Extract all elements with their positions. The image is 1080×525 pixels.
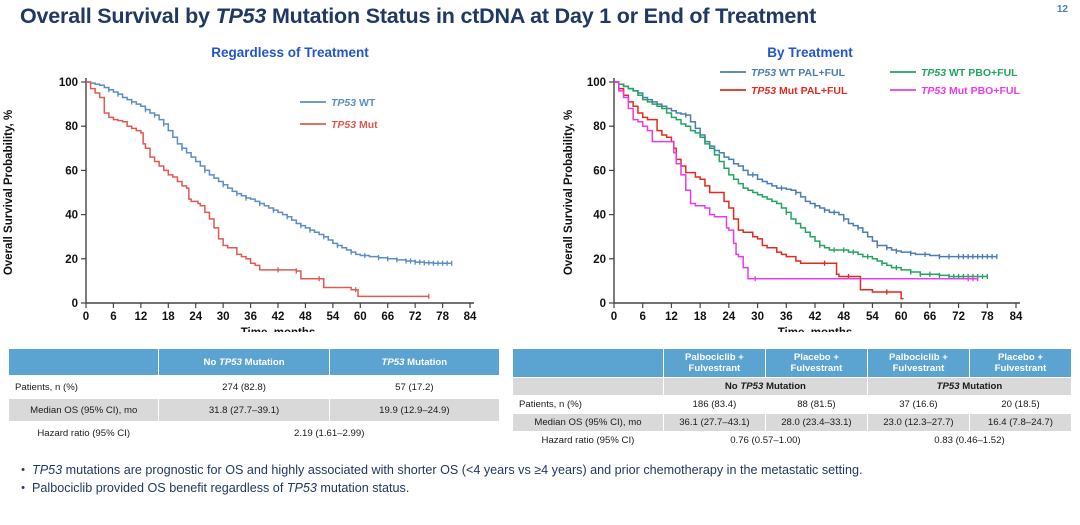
table-cell: 274 (82.8) (159, 376, 329, 399)
km-chart-right-svg: 0612182430364248546066727884020406080100… (560, 62, 1080, 332)
page-title: Overall Survival by TP53 Mutation Status… (20, 4, 1030, 29)
x-tick-label: 18 (694, 311, 707, 323)
y-tick-label: 80 (593, 121, 606, 133)
x-axis-label: Time, months (241, 327, 316, 332)
x-tick-label: 12 (665, 311, 678, 323)
km-curve-1 (86, 82, 429, 296)
y-tick-label: 80 (65, 121, 78, 133)
km-chart-by-treatment: 0612182430364248546066727884020406080100… (560, 62, 1080, 332)
table-header-cell: Placebo +Fulvestrant (765, 349, 867, 378)
table-cell: 186 (83.4) (663, 396, 765, 414)
bullet-marker: • (14, 462, 32, 478)
table-cell: 28.0 (23.4–33.1) (765, 414, 867, 432)
table-row-label: Median OS (95% CI), mo (513, 414, 664, 432)
slide-root: Overall Survival by TP53 Mutation Status… (0, 0, 1080, 525)
table-group-label: TP53 Mutation (867, 378, 1071, 396)
x-tick-label: 24 (189, 311, 202, 323)
table-cell: 0.76 (0.57–1.00) (663, 432, 867, 450)
x-tick-label: 48 (299, 311, 312, 323)
table-cell: 36.1 (27.7–43.1) (663, 414, 765, 432)
x-tick-label: 42 (272, 311, 285, 323)
page-number: 12 (1057, 4, 1068, 15)
y-tick-label: 0 (600, 298, 606, 310)
table-cell: 0.83 (0.46–1.52) (867, 432, 1071, 450)
table-header-blank (513, 349, 664, 378)
table-cell: 20 (18.5) (969, 396, 1071, 414)
y-tick-label: 40 (65, 210, 78, 222)
x-tick-label: 24 (722, 311, 735, 323)
x-tick-label: 84 (1010, 311, 1023, 323)
table-row: Median OS (95% CI), mo31.8 (27.7–39.1)19… (9, 399, 500, 422)
legend-label: TP53 WT PAL+FUL (751, 67, 846, 79)
x-tick-label: 42 (809, 311, 822, 323)
table-cell: 2.19 (1.61–2.99) (159, 422, 500, 445)
title-pre: Overall Survival by (20, 4, 216, 28)
table-header-cell: Placebo +Fulvestrant (969, 349, 1071, 378)
table-row-label: Patients, n (%) (9, 376, 159, 399)
summary-bullets: •TP53 mutations are prognostic for OS an… (14, 462, 1069, 498)
left-panel-subtitle: Regardless of Treatment (80, 45, 500, 60)
bullet-item: •TP53 mutations are prognostic for OS an… (14, 462, 1069, 478)
y-tick-label: 20 (593, 254, 606, 266)
table-header-row: No TP53 MutationTP53 Mutation (9, 349, 500, 376)
legend-label: TP53 WT (331, 97, 376, 109)
table-row-label: Patients, n (%) (513, 396, 664, 414)
bullet-text: Palbociclib provided OS benefit regardle… (32, 480, 409, 496)
y-tick-label: 0 (72, 298, 78, 310)
table-row-label: Hazard ratio (95% CI) (9, 422, 159, 445)
km-curve-0 (86, 82, 452, 263)
table-cell: 23.0 (12.3–27.7) (867, 414, 969, 432)
x-tick-label: 66 (923, 311, 936, 323)
table-header-cell: Palbociclib +Fulvestrant (867, 349, 969, 378)
table-cell: 57 (17.2) (329, 376, 499, 399)
title-post: Mutation Status in ctDNA at Day 1 or End… (266, 4, 816, 28)
x-tick-label: 72 (409, 311, 422, 323)
x-tick-label: 78 (981, 311, 994, 323)
km-curve-1 (614, 82, 987, 276)
bullet-marker: • (14, 480, 32, 496)
table-group-blank (513, 378, 664, 396)
table-cell: 31.8 (27.7–39.1) (159, 399, 329, 422)
y-tick-label: 100 (587, 77, 606, 89)
km-chart-left-svg: 0612182430364248546066727884020406080100… (0, 62, 520, 332)
y-tick-label: 100 (59, 77, 78, 89)
by-treatment-table: Palbociclib +FulvestrantPlacebo +Fulvest… (512, 348, 1072, 450)
title-gene: TP53 (216, 4, 267, 28)
x-tick-label: 48 (837, 311, 850, 323)
x-tick-label: 66 (381, 311, 394, 323)
table-row: Patients, n (%)186 (83.4)88 (81.5)37 (16… (513, 396, 1072, 414)
table-row: Patients, n (%)274 (82.8)57 (17.2) (9, 376, 500, 399)
x-tick-label: 36 (780, 311, 793, 323)
x-tick-label: 18 (162, 311, 175, 323)
y-tick-label: 20 (65, 254, 78, 266)
y-tick-label: 40 (593, 210, 606, 222)
table-header-blank (9, 349, 159, 376)
x-tick-label: 12 (134, 311, 147, 323)
km-chart-regardless-of-treatment: 0612182430364248546066727884020406080100… (0, 62, 520, 332)
table-header-cell: TP53 Mutation (329, 349, 499, 376)
y-axis-label: Overall Survival Probability, % (3, 110, 15, 275)
table-cell: 16.4 (7.8–24.7) (969, 414, 1071, 432)
table-row-label: Median OS (95% CI), mo (9, 399, 159, 422)
y-tick-label: 60 (593, 165, 606, 177)
y-tick-label: 60 (65, 165, 78, 177)
table-cell: 37 (16.6) (867, 396, 969, 414)
table-group-row: No TP53 MutationTP53 Mutation (513, 378, 1072, 396)
x-tick-label: 78 (436, 311, 449, 323)
x-tick-label: 6 (640, 311, 646, 323)
bullet-item: •Palbociclib provided OS benefit regardl… (14, 480, 1069, 496)
legend-label: TP53 Mut PAL+FUL (751, 85, 848, 97)
x-axis-label: Time, months (778, 327, 853, 332)
legend-label: TP53 WT PBO+FUL (921, 67, 1018, 79)
table-header-cell: No TP53 Mutation (159, 349, 329, 376)
x-tick-label: 54 (866, 311, 879, 323)
km-curve-3 (614, 82, 978, 279)
table-header-row: Palbociclib +FulvestrantPlacebo +Fulvest… (513, 349, 1072, 378)
regardless-of-treatment-table: No TP53 MutationTP53 MutationPatients, n… (8, 348, 500, 445)
table-row-label: Hazard ratio (95% CI) (513, 432, 664, 450)
x-tick-label: 54 (326, 311, 339, 323)
table-header-cell: Palbociclib +Fulvestrant (663, 349, 765, 378)
bullet-text: TP53 mutations are prognostic for OS and… (32, 462, 862, 478)
x-tick-label: 6 (110, 311, 116, 323)
legend-label: TP53 Mut PBO+FUL (921, 85, 1020, 97)
x-tick-label: 60 (354, 311, 367, 323)
x-tick-label: 84 (464, 311, 477, 323)
x-tick-label: 0 (611, 311, 617, 323)
x-tick-label: 72 (952, 311, 965, 323)
km-curve-2 (614, 82, 904, 299)
table-cell: 19.9 (12.9–24.9) (329, 399, 499, 422)
y-axis-label: Overall Survival Probability, % (563, 110, 575, 275)
x-tick-label: 0 (83, 311, 89, 323)
table-row: Median OS (95% CI), mo36.1 (27.7–43.1)28… (513, 414, 1072, 432)
table-row: Hazard ratio (95% CI)0.76 (0.57–1.00)0.8… (513, 432, 1072, 450)
x-tick-label: 36 (244, 311, 257, 323)
legend-label: TP53 Mut (331, 119, 378, 131)
right-panel-subtitle: By Treatment (600, 45, 1020, 60)
table-cell: 88 (81.5) (765, 396, 867, 414)
table-group-label: No TP53 Mutation (663, 378, 867, 396)
x-tick-label: 30 (217, 311, 230, 323)
table-row: Hazard ratio (95% CI)2.19 (1.61–2.99) (9, 422, 500, 445)
x-tick-label: 60 (895, 311, 908, 323)
x-tick-label: 30 (751, 311, 764, 323)
